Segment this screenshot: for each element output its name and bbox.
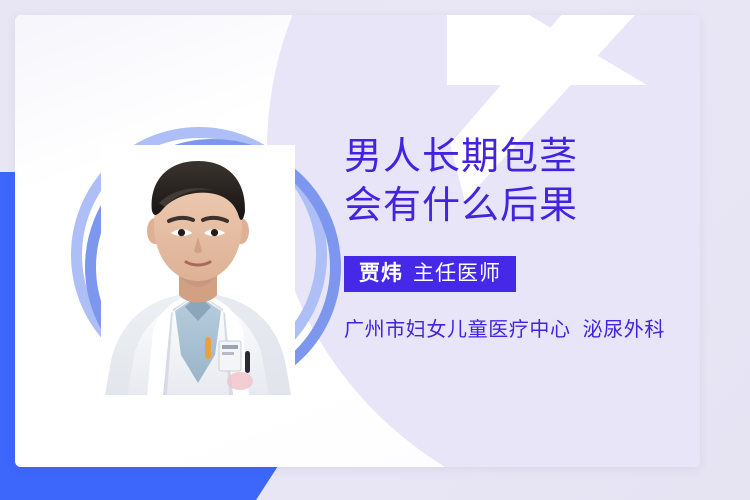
title-line-2: 会有什么后果 bbox=[344, 182, 700, 231]
doctor-credential-badge: 贾炜主任医师 bbox=[344, 256, 516, 292]
doctor-name: 贾炜 bbox=[359, 262, 403, 285]
page-title: 男人长期包茎 会有什么后果 bbox=[344, 133, 700, 232]
hospital-name: 广州市妇女儿童医疗中心 bbox=[344, 319, 571, 341]
text-content-column: 男人长期包茎 会有什么后果 贾炜主任医师 广州市妇女儿童医疗中心泌尿外科 bbox=[344, 133, 700, 342]
affiliation-line: 广州市妇女儿童医疗中心泌尿外科 bbox=[344, 313, 700, 342]
department-name: 泌尿外科 bbox=[583, 319, 665, 341]
doctor-photo bbox=[101, 145, 295, 395]
doctor-portrait-group bbox=[65, 123, 329, 399]
promo-card-stage: 男人长期包茎 会有什么后果 贾炜主任医师 广州市妇女儿童医疗中心泌尿外科 bbox=[0, 0, 750, 500]
content-card: 男人长期包茎 会有什么后果 贾炜主任医师 广州市妇女儿童医疗中心泌尿外科 bbox=[15, 15, 700, 467]
doctor-photo-frame bbox=[101, 145, 295, 395]
bottom-blue-accent-bar bbox=[0, 466, 278, 500]
title-line-1: 男人长期包茎 bbox=[344, 133, 700, 182]
doctor-title: 主任医师 bbox=[413, 262, 501, 285]
